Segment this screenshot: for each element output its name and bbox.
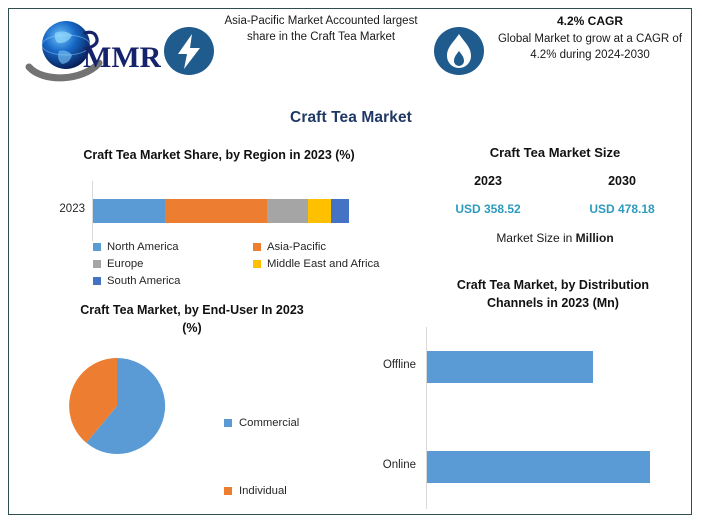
- header-highlight-1: Asia-Pacific Market Accounted largest sh…: [157, 13, 419, 93]
- globe-swoosh-icon: MMR: [21, 15, 161, 87]
- legend-swatch-asia-pacific: [253, 243, 261, 251]
- end-user-legend: Commercial Individual: [224, 389, 374, 525]
- legend-swatch-south-america: [93, 277, 101, 285]
- legend-item-commercial: Commercial: [224, 389, 374, 457]
- region-share-legend: North America Asia-Pacific Europe Middle…: [93, 241, 413, 292]
- legend-swatch-commercial: [224, 419, 232, 427]
- legend-swatch-middle-east-africa: [253, 260, 261, 268]
- market-size-title: Craft Tea Market Size: [421, 145, 689, 160]
- distribution-bar-offline: [427, 351, 593, 383]
- cagr-description: Global Market to grow at a CAGR of 4.2% …: [498, 33, 682, 61]
- market-size-value-2023: USD 358.52: [421, 202, 555, 216]
- end-user-title-line1: Craft Tea Market, by End-User In 2023: [80, 303, 303, 317]
- end-user-pie: [66, 355, 168, 457]
- distribution-plot: Offline Online: [421, 327, 689, 513]
- market-size-panel: Craft Tea Market Size 2023 USD 358.52 20…: [421, 143, 689, 267]
- market-size-footnote-unit: Million: [576, 231, 614, 245]
- market-size-footnote-prefix: Market Size in: [496, 231, 575, 245]
- market-size-col-2023: 2023 USD 358.52: [421, 174, 555, 216]
- distribution-title-line1: Craft Tea Market, by Distribution: [457, 278, 649, 292]
- legend-label-europe: Europe: [107, 258, 143, 270]
- distribution-bar-online: [427, 451, 650, 483]
- region-share-plot: 2023: [19, 181, 419, 243]
- market-size-years: 2023 USD 358.52 2030 USD 478.18: [421, 174, 689, 216]
- legend-label-individual: Individual: [239, 485, 287, 497]
- region-share-title: Craft Tea Market Share, by Region in 202…: [19, 147, 419, 164]
- bar-segment-south-america: [331, 199, 349, 223]
- market-size-value-2030: USD 478.18: [555, 202, 689, 216]
- distribution-label-online: Online: [366, 459, 416, 471]
- distribution-channels-chart: Craft Tea Market, by Distribution Channe…: [421, 277, 689, 515]
- legend-label-south-america: South America: [107, 275, 180, 287]
- legend-item-south-america: South America: [93, 275, 253, 287]
- market-size-footnote: Market Size in Million: [421, 231, 689, 245]
- mmr-logo: MMR: [21, 15, 161, 87]
- market-size-year-2030: 2030: [555, 174, 689, 188]
- region-share-category-label: 2023: [41, 203, 85, 215]
- distribution-channels-title: Craft Tea Market, by Distribution Channe…: [427, 277, 679, 312]
- end-user-title: Craft Tea Market, by End-User In 2023 (%…: [27, 301, 357, 337]
- bar-segment-north-america: [93, 199, 165, 223]
- lightning-bolt-icon: [163, 25, 215, 77]
- legend-label-asia-pacific: Asia-Pacific: [267, 241, 326, 253]
- distribution-label-offline: Offline: [366, 359, 416, 371]
- pie-svg: [66, 355, 168, 457]
- page-title: Craft Tea Market: [9, 109, 693, 127]
- market-size-col-2030: 2030 USD 478.18: [555, 174, 689, 216]
- legend-swatch-individual: [224, 487, 232, 495]
- legend-item-europe: Europe: [93, 258, 253, 270]
- distribution-row-offline: Offline: [421, 351, 689, 383]
- header-highlight-2: 4.2% CAGR Global Market to grow at a CAG…: [427, 13, 689, 97]
- legend-label-north-america: North America: [107, 241, 179, 253]
- end-user-chart: Craft Tea Market, by End-User In 2023 (%…: [19, 301, 419, 515]
- header-bar: MMR Asia-Pacific Market Accounted larges…: [9, 9, 693, 97]
- legend-swatch-north-america: [93, 243, 101, 251]
- region-share-chart: Craft Tea Market Share, by Region in 202…: [19, 147, 419, 295]
- end-user-title-line2: (%): [182, 321, 201, 335]
- bar-segment-asia-pacific: [165, 199, 267, 223]
- legend-label-middle-east-africa: Middle East and Africa: [267, 258, 379, 270]
- header-highlight-1-text: Asia-Pacific Market Accounted largest sh…: [223, 13, 419, 46]
- legend-item-north-america: North America: [93, 241, 253, 253]
- bar-segment-europe: [267, 199, 308, 223]
- region-share-stacked-bar: [93, 199, 349, 223]
- distribution-title-line2: Channels in 2023 (Mn): [487, 296, 619, 310]
- header-highlight-2-text: 4.2% CAGR Global Market to grow at a CAG…: [497, 13, 683, 64]
- legend-label-commercial: Commercial: [239, 417, 299, 429]
- bar-segment-middle-east-africa: [308, 199, 331, 223]
- flame-icon: [433, 25, 485, 77]
- distribution-row-online: Online: [421, 451, 689, 483]
- legend-item-individual: Individual: [224, 457, 374, 525]
- infographic-canvas: MMR Asia-Pacific Market Accounted larges…: [0, 0, 702, 524]
- market-size-year-2023: 2023: [421, 174, 555, 188]
- legend-item-asia-pacific: Asia-Pacific: [253, 241, 413, 253]
- cagr-value: 4.2% CAGR: [497, 13, 683, 30]
- legend-swatch-europe: [93, 260, 101, 268]
- infographic-frame: MMR Asia-Pacific Market Accounted larges…: [8, 8, 692, 515]
- legend-item-middle-east-africa: Middle East and Africa: [253, 258, 413, 270]
